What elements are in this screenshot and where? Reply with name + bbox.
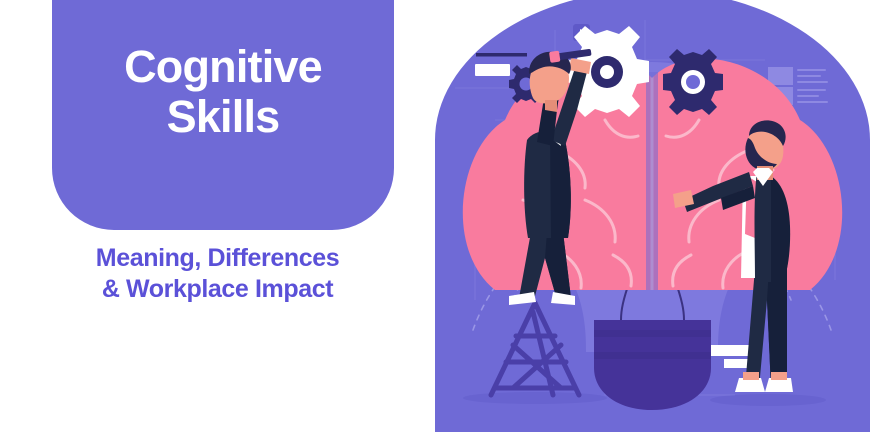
left-text-panel: Cognitive Skills Meaning, Differences & … <box>0 0 435 432</box>
top-left-white-bar <box>475 64 510 76</box>
gear-medium-right <box>663 49 723 115</box>
illustration-svg <box>435 0 870 432</box>
light-bulb-base <box>594 320 711 410</box>
top-left-dark-bar <box>476 53 527 57</box>
title-card: Cognitive Skills <box>52 0 394 230</box>
page-subtitle: Meaning, Differences & Workplace Impact <box>28 243 407 306</box>
illustration-panel <box>435 0 870 432</box>
page-title: Cognitive Skills <box>52 42 394 143</box>
